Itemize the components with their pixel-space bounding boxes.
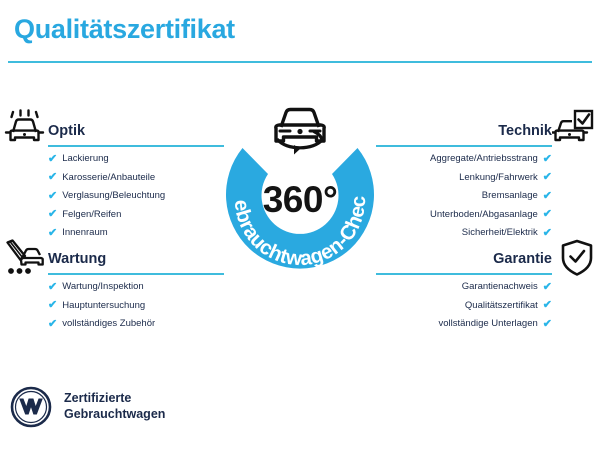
section-optik-divider xyxy=(48,145,224,147)
list-item-label: Karosserie/Anbauteile xyxy=(62,173,155,183)
list-item: Unterboden/Abgasanlage ✔ xyxy=(376,209,552,220)
list-item: ✔ Felgen/Reifen xyxy=(48,209,224,220)
check-icon: ✔ xyxy=(48,172,57,183)
section-garantie-header: Garantie xyxy=(376,252,552,267)
car-checkbox-icon xyxy=(552,108,596,148)
section-optik-header: Optik xyxy=(48,124,224,139)
list-item: ✔ Wartung/Inspektion xyxy=(48,282,224,293)
car-shine-icon xyxy=(4,108,48,148)
check-icon: ✔ xyxy=(48,154,57,165)
section-wartung-header: Wartung xyxy=(48,252,224,267)
check-icon: ✔ xyxy=(543,172,552,183)
footer-text: Zertifizierte Gebrauchtwagen xyxy=(64,391,165,422)
list-item-label: Innenraum xyxy=(62,228,107,238)
list-item: vollständige Unterlagen ✔ xyxy=(376,319,552,330)
section-technik-header: Technik xyxy=(376,124,552,139)
list-item-label: Qualitätszertifikat xyxy=(465,301,538,311)
check-icon: ✔ xyxy=(48,319,57,330)
list-item: ✔ Hauptuntersuchung xyxy=(48,300,224,311)
check-icon: ✔ xyxy=(543,209,552,220)
title-divider xyxy=(8,61,592,63)
check-icon: ✔ xyxy=(48,300,57,311)
section-wartung-list: ✔ Wartung/Inspektion ✔ Hauptuntersuchung… xyxy=(48,282,224,330)
list-item-label: vollständige Unterlagen xyxy=(438,319,537,329)
footer-line-2: Gebrauchtwagen xyxy=(64,407,165,423)
list-item: ✔ Karosserie/Anbauteile xyxy=(48,172,224,183)
section-garantie: Garantie Garantienachweis ✔ Qualitätszer… xyxy=(376,252,552,337)
list-item-label: Aggregate/Antriebsstrang xyxy=(430,154,538,164)
section-technik-divider xyxy=(376,145,552,147)
badge-center-label: 360° xyxy=(202,170,398,230)
list-item-label: Hauptuntersuchung xyxy=(62,301,145,311)
wrench-car-icon xyxy=(4,238,48,278)
check-icon: ✔ xyxy=(543,319,552,330)
section-wartung: Wartung ✔ Wartung/Inspektion ✔ Hauptunte… xyxy=(48,252,224,337)
section-technik: Technik Aggregate/Antriebsstrang ✔ Lenku… xyxy=(376,124,552,246)
list-item: Qualitätszertifikat ✔ xyxy=(376,300,552,311)
list-item-label: vollständiges Zubehör xyxy=(62,319,155,329)
check-icon: ✔ xyxy=(543,228,552,239)
list-item-label: Felgen/Reifen xyxy=(62,210,121,220)
list-item-label: Unterboden/Abgasanlage xyxy=(430,210,538,220)
section-optik-list: ✔ Lackierung ✔ Karosserie/Anbauteile ✔ V… xyxy=(48,154,224,239)
list-item-label: Lackierung xyxy=(62,154,108,164)
gebrauchtwagen-check-badge: Gebrauchtwagen-Check 360° xyxy=(202,96,398,302)
vw-certified-footer: Zertifizierte Gebrauchtwagen xyxy=(10,386,165,428)
vw-logo-icon xyxy=(10,386,52,428)
list-item: ✔ Innenraum xyxy=(48,228,224,239)
section-wartung-title: Wartung xyxy=(48,252,106,267)
list-item: ✔ Verglasung/Beleuchtung xyxy=(48,191,224,202)
list-item: Lenkung/Fahrwerk ✔ xyxy=(376,172,552,183)
check-icon: ✔ xyxy=(543,154,552,165)
list-item: ✔ vollständiges Zubehör xyxy=(48,319,224,330)
list-item: ✔ Lackierung xyxy=(48,154,224,165)
section-technik-title: Technik xyxy=(498,124,552,139)
list-item: Bremsanlage ✔ xyxy=(376,191,552,202)
section-optik: Optik ✔ Lackierung ✔ Karosserie/Anbautei… xyxy=(48,124,224,246)
list-item-label: Verglasung/Beleuchtung xyxy=(62,191,165,201)
footer-line-1: Zertifizierte xyxy=(64,391,165,407)
section-garantie-divider xyxy=(376,273,552,275)
list-item-label: Sicherheit/Elektrik xyxy=(462,228,538,238)
check-icon: ✔ xyxy=(543,282,552,293)
list-item-label: Garantienachweis xyxy=(462,282,538,292)
check-icon: ✔ xyxy=(543,300,552,311)
list-item-label: Bremsanlage xyxy=(482,191,538,201)
certificate-page: Qualitätszertifikat xyxy=(0,0,600,450)
check-icon: ✔ xyxy=(48,209,57,220)
list-item-label: Lenkung/Fahrwerk xyxy=(459,173,538,183)
check-icon: ✔ xyxy=(48,228,57,239)
check-icon: ✔ xyxy=(48,191,57,202)
page-title: Qualitätszertifikat xyxy=(14,14,235,45)
list-item-label: Wartung/Inspektion xyxy=(62,282,144,292)
list-item: Aggregate/Antriebsstrang ✔ xyxy=(376,154,552,165)
list-item: Garantienachweis ✔ xyxy=(376,282,552,293)
shield-check-icon xyxy=(556,238,600,278)
check-icon: ✔ xyxy=(543,191,552,202)
section-garantie-title: Garantie xyxy=(493,252,552,267)
section-optik-title: Optik xyxy=(48,124,85,139)
check-icon: ✔ xyxy=(48,282,57,293)
section-wartung-divider xyxy=(48,273,224,275)
section-technik-list: Aggregate/Antriebsstrang ✔ Lenkung/Fahrw… xyxy=(376,154,552,239)
section-garantie-list: Garantienachweis ✔ Qualitätszertifikat ✔… xyxy=(376,282,552,330)
list-item: Sicherheit/Elektrik ✔ xyxy=(376,228,552,239)
